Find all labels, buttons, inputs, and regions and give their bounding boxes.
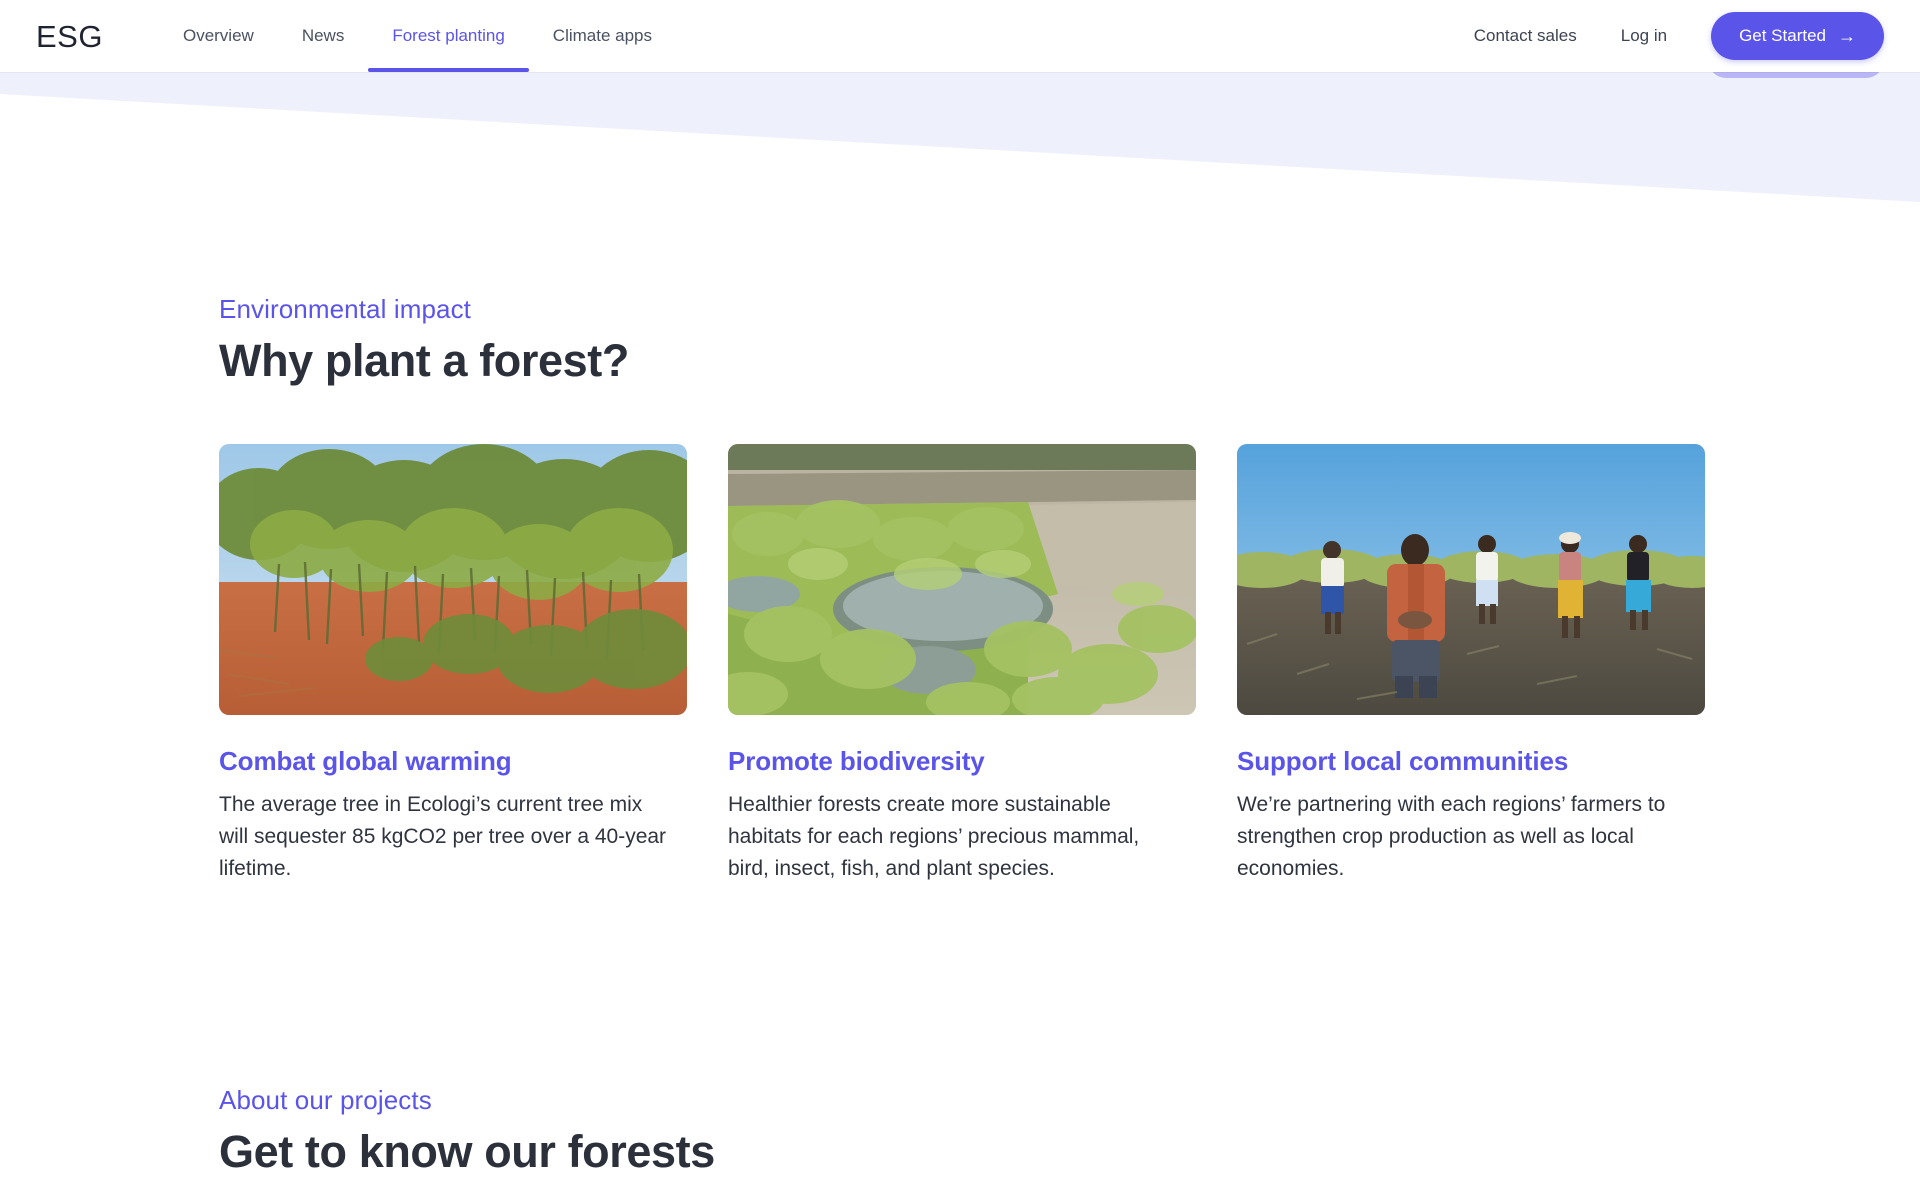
nav-label: News xyxy=(302,26,345,46)
benefit-card[interactable]: Combat global warming The average tree i… xyxy=(219,444,687,885)
benefit-card[interactable]: Promote biodiversity Healthier forests c… xyxy=(728,444,1196,885)
get-started-button[interactable]: Get Started → xyxy=(1711,12,1884,60)
nav-label: Climate apps xyxy=(553,26,652,46)
benefit-card-text: Healthier forests create more sustainabl… xyxy=(728,789,1180,885)
benefit-card-title: Support local communities xyxy=(1237,746,1705,777)
benefit-card-text: The average tree in Ecologi’s current tr… xyxy=(219,789,671,885)
benefit-card-list: Combat global warming The average tree i… xyxy=(219,444,1920,885)
section-eyebrow: About our projects xyxy=(219,1085,1920,1116)
nav-item-forest-planting[interactable]: Forest planting xyxy=(368,0,528,72)
arrow-right-icon: → xyxy=(1838,27,1856,45)
mangrove-saplings-red-soil-image xyxy=(219,444,687,715)
page-title: Why plant a forest? xyxy=(219,335,1920,387)
nav-label: Overview xyxy=(183,26,254,46)
site-header: ESG Overview News Forest planting Climat… xyxy=(0,0,1920,72)
section-environmental-impact: Environmental impact Why plant a forest? xyxy=(219,72,1920,885)
aerial-wetland-mangrove-lagoon-image xyxy=(728,444,1196,715)
nav-item-overview[interactable]: Overview xyxy=(159,0,278,72)
page-root: ESG Overview News Forest planting Climat… xyxy=(0,0,1920,1200)
benefit-card-text: We’re partnering with each regions’ farm… xyxy=(1237,789,1689,885)
header-actions: Contact sales Log in Get Started → xyxy=(1452,12,1884,60)
contact-sales-link[interactable]: Contact sales xyxy=(1452,26,1599,46)
brand-logo[interactable]: ESG xyxy=(36,21,103,52)
section-heading: Get to know our forests xyxy=(219,1126,1920,1178)
benefit-card-title: Promote biodiversity xyxy=(728,746,1196,777)
nav-item-news[interactable]: News xyxy=(278,0,369,72)
benefit-card-title: Combat global warming xyxy=(219,746,687,777)
nav-label: Forest planting xyxy=(392,26,504,46)
local-farmers-standing-in-field-image xyxy=(1237,444,1705,715)
main-content: Environmental impact Why plant a forest? xyxy=(0,72,1920,1178)
get-started-label: Get Started xyxy=(1739,26,1826,46)
section-eyebrow: Environmental impact xyxy=(219,294,1920,325)
primary-nav: Overview News Forest planting Climate ap… xyxy=(159,0,676,72)
benefit-card[interactable]: Support local communities We’re partneri… xyxy=(1237,444,1705,885)
section-about-our-projects: About our projects Get to know our fores… xyxy=(219,885,1920,1178)
nav-item-climate-apps[interactable]: Climate apps xyxy=(529,0,676,72)
log-in-link[interactable]: Log in xyxy=(1599,26,1689,46)
